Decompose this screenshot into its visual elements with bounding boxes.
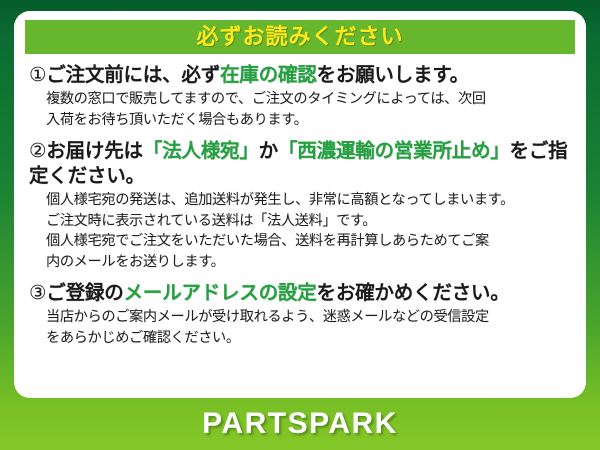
notice-item-heading: ②お届け先は「法人様宛」か「西濃運輸の営業所止め」をご指定ください。 <box>29 139 573 189</box>
notice-item-detail: 複数の窓口で販売してますので、ご注文のタイミングによっては、次回入荷をお待ち頂い… <box>46 89 573 130</box>
notice-list: ①ご注文前には、必ず在庫の確認をお願いします。複数の窓口で販売してますので、ご注… <box>25 61 575 349</box>
notice-detail-line: ご注文時に表示されている送料は「法人送料」です。 <box>46 211 573 232</box>
notice-highlight-text: 「法人様宛」 <box>143 140 259 162</box>
brand-footer: PARTSPARK <box>0 398 600 450</box>
notice-detail-line: 個人様宅宛の発送は、追加送料が発生し、非常に高額となってしまいます。 <box>46 190 573 211</box>
notice-item-detail: 当店からのご案内メールが受け取れるよう、迷惑メールなどの受信設定をあらかじめご確… <box>46 307 573 348</box>
notice-plain-text: をお確かめください。 <box>317 282 510 304</box>
notice-item: ①ご注文前には、必ず在庫の確認をお願いします。複数の窓口で販売してますので、ご注… <box>29 63 573 130</box>
notice-plain-text: ご注文前には、必ず <box>46 64 220 86</box>
notice-item: ②お届け先は「法人様宛」か「西濃運輸の営業所止め」をご指定ください。個人様宅宛の… <box>29 139 573 272</box>
notice-item: ③ご登録のメールアドレスの設定をお確かめください。当店からのご案内メールが受け取… <box>29 281 573 348</box>
notice-highlight-text: 在庫の確認 <box>220 64 317 86</box>
notice-detail-line: 当店からのご案内メールが受け取れるよう、迷惑メールなどの受信設定 <box>46 307 573 328</box>
notice-item-marker: ① <box>29 64 46 86</box>
notice-highlight-text: メールアドレスの設定 <box>124 282 317 304</box>
notice-plain-text: ご登録の <box>46 282 123 304</box>
notice-card: 必ずお読みください ①ご注文前には、必ず在庫の確認をお願いします。複数の窓口で販… <box>14 11 586 398</box>
notice-detail-line: 個人様宅宛でご注文をいただいた場合、送料を再計算しあらためてご案 <box>46 231 573 252</box>
notice-detail-line: 内のメールをお送りします。 <box>46 252 573 273</box>
notice-detail-line: 複数の窓口で販売してますので、ご注文のタイミングによっては、次回 <box>46 89 573 110</box>
notice-plain-text: お届け先は <box>46 140 143 162</box>
notice-plain-text: をお願いします。 <box>317 64 469 86</box>
brand-name: PARTSPARK <box>202 409 398 439</box>
notice-item-heading: ③ご登録のメールアドレスの設定をお確かめください。 <box>29 281 573 306</box>
notice-item-heading: ①ご注文前には、必ず在庫の確認をお願いします。 <box>29 63 573 88</box>
notice-item-marker: ② <box>29 140 46 162</box>
notice-plain-text: か <box>259 140 278 162</box>
notice-title-bar: 必ずお読みください <box>25 20 575 54</box>
notice-detail-line: をあらかじめご確認ください。 <box>46 328 573 349</box>
page-title: 必ずお読みください <box>196 26 403 48</box>
notice-highlight-text: 「西濃運輸の営業所止め」 <box>278 140 510 162</box>
notice-item-detail: 個人様宅宛の発送は、追加送料が発生し、非常に高額となってしまいます。ご注文時に表… <box>46 190 573 272</box>
notice-item-marker: ③ <box>29 282 46 304</box>
notice-detail-line: 入荷をお待ち頂いただく場合もあります。 <box>46 110 573 131</box>
notice-banner: 必ずお読みください ①ご注文前には、必ず在庫の確認をお願いします。複数の窓口で販… <box>0 0 600 450</box>
